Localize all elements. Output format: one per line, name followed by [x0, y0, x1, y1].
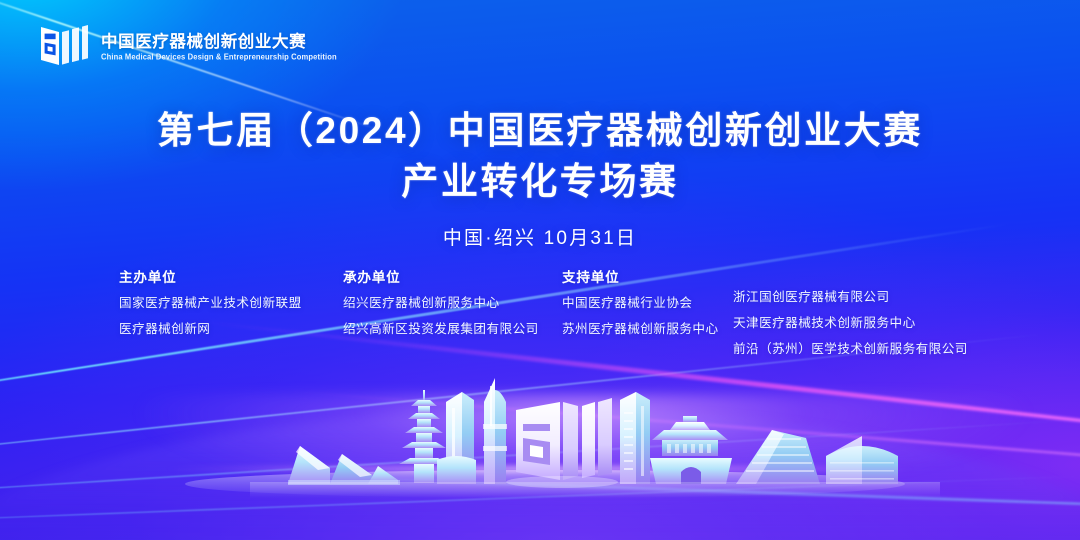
event-location-date: 中国·绍兴 10月31日	[0, 223, 1080, 250]
ribbed-skyscraper	[620, 392, 650, 484]
organizer-item: 浙江国创医疗器械有限公司	[733, 291, 968, 304]
event-poster: 中国医疗器械创新创业大赛 China Medical Devices Desig…	[0, 0, 1080, 540]
organizer-columns: 主办单位 国家医疗器械产业技术创新联盟 医疗器械创新网 承办单位 绍兴医疗器械创…	[0, 266, 1080, 366]
column-heading: 主办单位	[119, 266, 302, 286]
glass-tower	[437, 392, 476, 484]
organizer-item: 苏州医疗器械创新服务中心	[562, 323, 719, 336]
column-heading: 承办单位	[343, 266, 539, 286]
column-heading: 支持单位	[562, 266, 719, 286]
brand-name-cn: 中国医疗器械创新创业大赛	[101, 34, 337, 51]
city-skyline-illustration	[0, 372, 1080, 522]
page-title-line-1: 第七届（2024）中国医疗器械创新创业大赛	[0, 108, 1080, 153]
stepped-pyramid	[736, 430, 820, 484]
organizer-item: 绍兴医疗器械创新服务中心	[343, 297, 539, 310]
organizer-column-supporter-continued: 浙江国创医疗器械有限公司 天津医疗器械技术创新服务中心 前沿（苏州）医学技术创新…	[733, 266, 968, 369]
organizer-column-supporter: 支持单位 中国医疗器械行业协会 苏州医疗器械创新服务中心	[562, 266, 719, 349]
bullet-tower	[483, 378, 507, 484]
brand-lockup: 中国医疗器械创新创业大赛 China Medical Devices Desig…	[38, 20, 337, 72]
organizer-column-organizer: 承办单位 绍兴医疗器械创新服务中心 绍兴高新区投资发展集团有限公司	[343, 266, 539, 349]
column-heading-spacer	[733, 266, 968, 291]
organizer-item: 绍兴高新区投资发展集团有限公司	[343, 323, 539, 336]
organizer-column-host: 主办单位 国家医疗器械产业技术创新联盟 医疗器械创新网	[119, 266, 302, 349]
organizer-item: 医疗器械创新网	[119, 323, 302, 336]
brand-name-en: China Medical Devices Design & Entrepren…	[101, 52, 337, 61]
organizer-item: 天津医疗器械技术创新服务中心	[733, 317, 968, 330]
organizer-item: 前沿（苏州）医学技术创新服务有限公司	[733, 343, 968, 356]
organizer-item: 国家医疗器械产业技术创新联盟	[119, 297, 302, 310]
organizer-item: 中国医疗器械行业协会	[562, 297, 719, 310]
page-title-line-2: 产业转化专场赛	[0, 159, 1080, 204]
open-book-door-logo-icon	[38, 20, 90, 72]
dome-arena	[826, 436, 898, 484]
opera-house-sails	[288, 446, 400, 485]
city-gate-tower	[650, 416, 732, 484]
hero-title-block: 第七届（2024）中国医疗器械创新创业大赛 产业转化专场赛 中国·绍兴 10月3…	[0, 108, 1080, 250]
